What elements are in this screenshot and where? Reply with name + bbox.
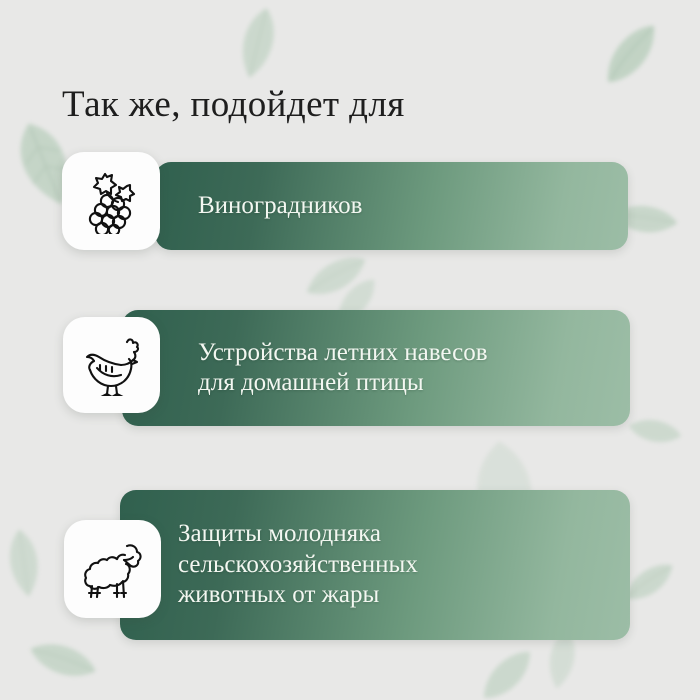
feature-card-livestock-heat-protection[interactable]: Защиты молодняка сельскохозяйственных жи… — [120, 490, 630, 640]
leaf-icon — [0, 525, 53, 601]
feature-card-label: Защиты молодняка сельскохозяйственных жи… — [120, 519, 418, 611]
grapes-icon — [80, 168, 142, 234]
feature-card-vineyards[interactable]: Виноградников — [155, 162, 628, 250]
leaf-icon — [298, 245, 374, 306]
leaf-icon — [467, 639, 547, 700]
leaf-icon — [588, 15, 674, 93]
feature-card-poultry-canopies[interactable]: Устройства летних навесов для домашней п… — [122, 310, 630, 426]
chicken-icon — [79, 334, 145, 396]
chicken-icon-tile[interactable] — [63, 317, 160, 413]
leaf-icon — [623, 403, 687, 458]
grapes-icon-tile[interactable] — [62, 152, 160, 250]
page-title: Так же, подойдет для — [62, 83, 405, 126]
leaf-icon — [21, 620, 106, 700]
feature-card-label: Устройства летних навесов для домашней п… — [122, 338, 488, 399]
feature-card-label: Виноградников — [155, 191, 362, 222]
slide-canvas: Так же, подойдет для Виноградников — [0, 0, 700, 700]
sheep-icon-tile[interactable] — [64, 520, 161, 618]
leaf-icon — [224, 1, 292, 85]
sheep-icon — [79, 540, 147, 598]
